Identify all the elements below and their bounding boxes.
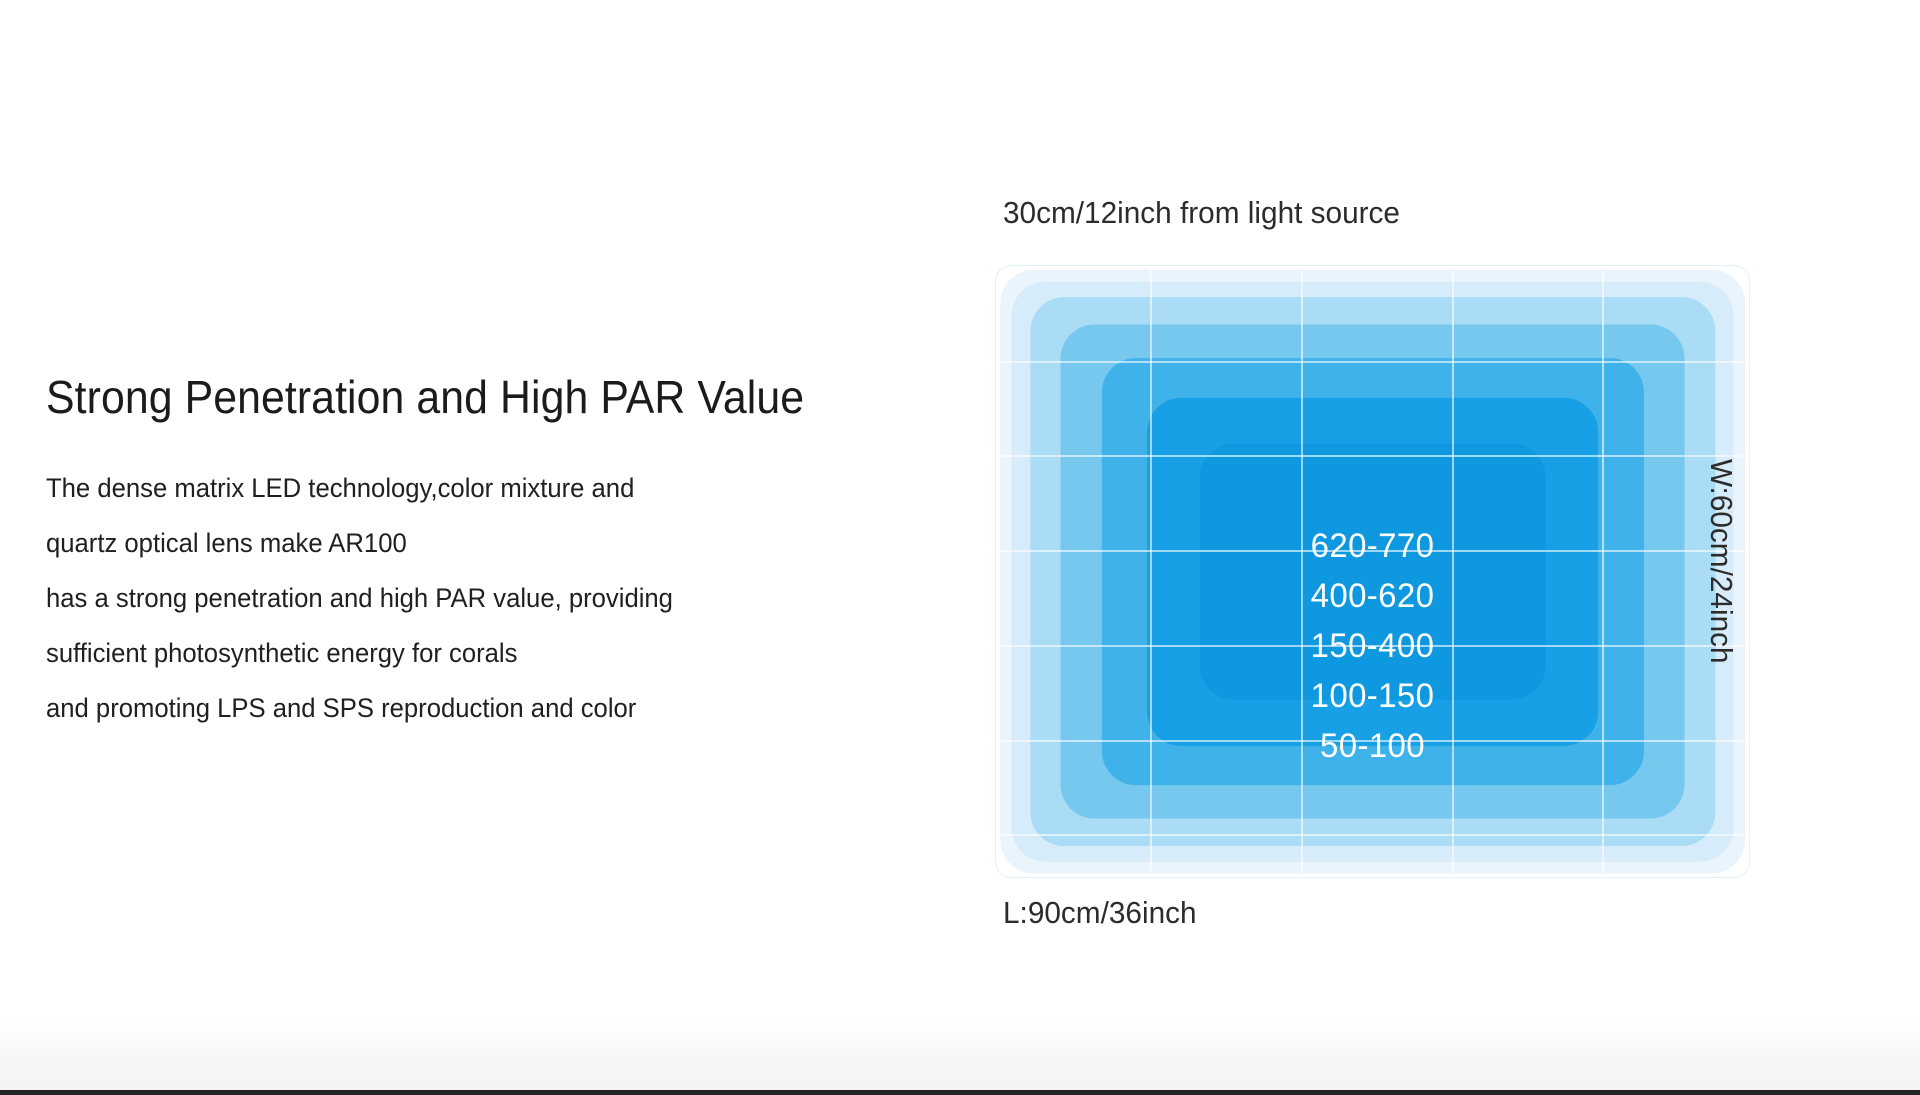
description-line: The dense matrix LED technology,color mi…	[46, 461, 844, 516]
page-root: Strong Penetration and High PAR Value Th…	[0, 0, 1920, 1095]
par-heatmap-plot: 620-770 400-620 150-400 100-150 50-100	[995, 265, 1750, 878]
page-bottom-band	[0, 1018, 1920, 1090]
description-line: quartz optical lens make AR100	[46, 516, 844, 571]
description-line: and promoting LPS and SPS reproduction a…	[46, 681, 844, 736]
par-heatmap-figure: 30cm/12inch from light source 620-770 40…	[995, 195, 1785, 805]
par-band-620-770	[1199, 443, 1545, 700]
description-line: has a strong penetration and high PAR va…	[46, 571, 844, 626]
marketing-copy-column: Strong Penetration and High PAR Value Th…	[46, 372, 886, 736]
page-bottom-rule	[0, 1090, 1920, 1095]
page-title: Strong Penetration and High PAR Value	[46, 372, 827, 423]
description-paragraph: The dense matrix LED technology,color mi…	[46, 461, 886, 736]
description-line: sufficient photosynthetic energy for cor…	[46, 626, 844, 681]
heatmap-title: 30cm/12inch from light source	[1003, 195, 1400, 231]
x-axis-label: L:90cm/36inch	[1003, 895, 1197, 931]
y-axis-label: W:60cm/24inch	[1703, 459, 1739, 664]
